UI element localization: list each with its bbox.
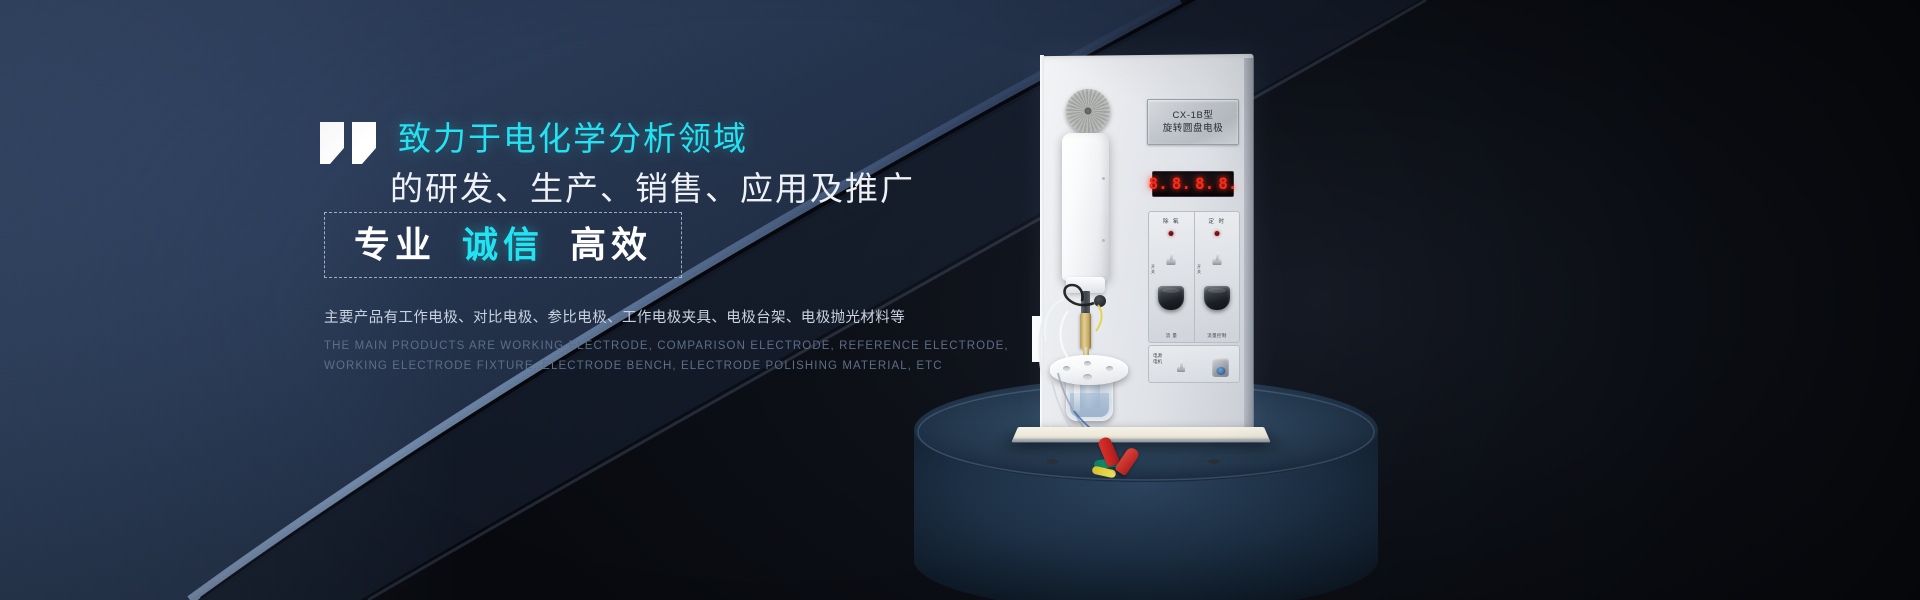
texture-overlay (0, 0, 1920, 600)
subtitle-chinese: 主要产品有工作电极、对比电极、参比电极、工作电极夹具、电极台架、电极抛光材料等 (324, 306, 905, 327)
hero-banner: 致力于电化学分析领域 的研发、生产、销售、应用及推广 专业 诚信 高效 主要产品… (0, 0, 1920, 600)
lower-control-panel: 电源电机 (1148, 345, 1240, 383)
toggle-caption-2: 开关 (1197, 264, 1201, 274)
led-display: 8. 8. 8. 8. (1152, 171, 1234, 197)
control-label-1: 除 氧 (1149, 217, 1194, 225)
led-digit-2: 8. (1172, 176, 1191, 192)
power-toggle-switch[interactable] (1177, 361, 1185, 372)
slogan-box: 专业 诚信 高效 (324, 212, 682, 278)
motor-shaft (1081, 291, 1090, 315)
shaft-coupler (1094, 295, 1106, 307)
knob-caption-2: 流量控制 (1195, 333, 1239, 339)
rotating-disk-top (1066, 89, 1110, 133)
instrument-base-plate (1011, 427, 1270, 442)
headline-line-2: 的研发、生产、销售、应用及推广 (390, 162, 915, 210)
motor-housing (1062, 133, 1109, 281)
subtitle-english: THE MAIN PRODUCTS ARE WORKING ELECTRODE,… (324, 336, 1009, 376)
product-nameplate: CX-1B型 旋转圆盘电极 (1147, 99, 1239, 145)
led-digit-1: 8. (1148, 176, 1167, 192)
toggle-switch-2[interactable] (1212, 252, 1221, 265)
cap-port-2 (1084, 361, 1091, 366)
control-label-2: 定 时 (1195, 217, 1239, 225)
open-quote-icon (320, 122, 378, 164)
nameplate-type: 旋转圆盘电极 (1163, 124, 1224, 134)
beaker-highlight (1074, 383, 1080, 413)
cap-port-1 (1063, 366, 1070, 371)
brass-electrode-shaft (1080, 313, 1091, 349)
control-column-timer: 定 时 开关 流量控制 (1194, 212, 1239, 342)
base-foot-left (1046, 459, 1058, 464)
lower-control-label: 电源电机 (1153, 353, 1162, 365)
rotary-knob-1[interactable] (1158, 286, 1184, 310)
slogan-word-3: 高效 (570, 227, 652, 263)
background-arc-decoration (0, 0, 1920, 600)
cap-port-center (1083, 374, 1092, 380)
base-foot-right (1208, 459, 1220, 464)
control-panel: 除 氧 开关 流 量 定 时 开关 流量控制 (1148, 211, 1240, 343)
cap-port-3 (1106, 366, 1113, 371)
rotary-knob-2[interactable] (1204, 286, 1230, 310)
slogan-word-2: 诚信 (462, 227, 544, 263)
subtitle-english-line-1: THE MAIN PRODUCTS ARE WORKING ELECTRODE,… (324, 336, 1009, 356)
product-instrument: CX-1B型 旋转圆盘电极 8. 8. 8. 8. 除 氧 开关 流 量 (1022, 55, 1272, 445)
control-column-deoxygenation: 除 氧 开关 流 量 (1149, 212, 1194, 342)
toggle-switch-1[interactable] (1167, 252, 1176, 265)
led-digit-4: 8. (1218, 176, 1237, 192)
slogan-word-1: 专业 (354, 227, 436, 263)
toggle-lever (1180, 361, 1183, 369)
panel-left-edge (1040, 55, 1044, 430)
vignette-overlay (0, 0, 1920, 600)
subtitle-english-line-2: WORKING ELECTRODE FIXTURE, ELECTRODE BEN… (324, 356, 1009, 376)
power-socket[interactable] (1212, 358, 1229, 377)
indicator-led-2 (1214, 231, 1219, 236)
alligator-clip-red-2 (1114, 446, 1140, 476)
knob-caption-1: 流 量 (1149, 333, 1194, 339)
toggle-caption-1: 开关 (1151, 264, 1155, 274)
alligator-clip-yellow (1091, 466, 1116, 479)
ptfe-cell-cap (1050, 355, 1128, 385)
led-digit-3: 8. (1195, 176, 1214, 192)
indicator-led-1 (1169, 231, 1174, 236)
nameplate-model: CX-1B型 (1172, 111, 1213, 121)
headline-line-1: 致力于电化学分析领域 (398, 112, 748, 160)
panel-right-edge (1244, 58, 1253, 430)
